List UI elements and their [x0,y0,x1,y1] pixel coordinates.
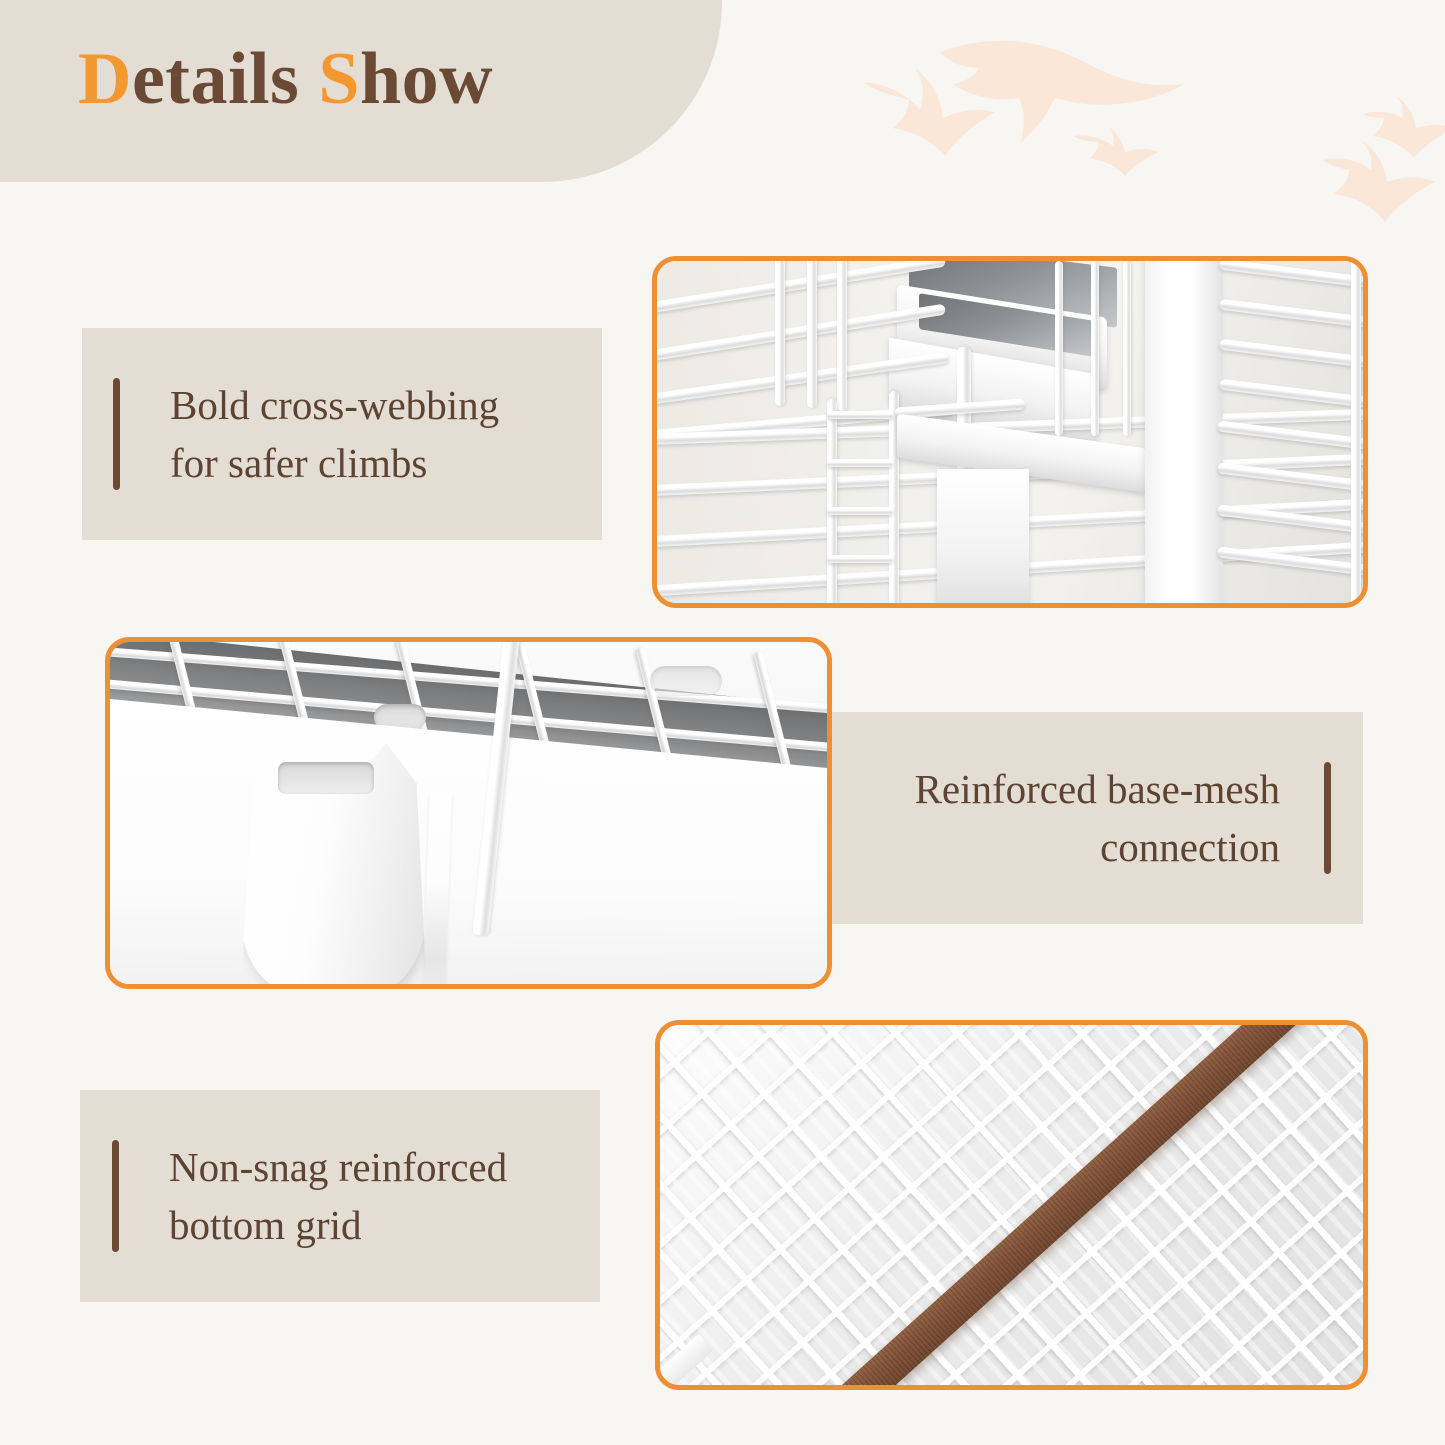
page-title: Details Show [78,38,493,121]
photo1-vbar [1055,261,1063,436]
photo1-vbar [807,261,817,408]
bird-silhouette-icon [1323,140,1435,222]
photo1-ladder-rung [827,459,893,467]
bird-silhouette-group [845,10,1445,270]
photo1-vbar [1123,261,1131,436]
feature-3-accent-bar [112,1140,119,1252]
bird-silhouette-icon [940,41,1185,142]
photo1-ladder-rail [827,399,837,603]
photo1-ladder-rung [827,555,893,563]
feature-2-line-1: Reinforced base-mesh [915,760,1280,818]
photo1-vbar [1091,261,1099,436]
feature-1-accent-bar [113,378,120,490]
bird-silhouette-icon [1363,96,1445,158]
photo1-tall-post [1145,261,1223,603]
feature-1-caption: Bold cross-webbing for safer climbs [170,376,499,492]
title-accent-s: S [318,38,360,120]
photo2-mesh-fitting [650,666,722,696]
photo1-chute [937,469,1029,603]
photo1-vbar [837,261,847,411]
base-mesh-photo [105,637,832,989]
feature-2-accent-bar [1324,762,1331,874]
photo1-ladder-rung [827,507,893,515]
feature-3-line-2: bottom grid [169,1196,507,1254]
infographic-page: Details Show Bold cross-webbing for safe… [0,0,1445,1445]
feature-1-text-block: Bold cross-webbing for safer climbs [82,328,602,540]
bird-silhouette-icon [863,68,995,156]
photo2-latch-handle-slot [278,762,374,794]
feature-3-caption: Non-snag reinforced bottom grid [169,1138,507,1254]
photo1-vbar [775,261,785,406]
feature-2-text-block: Reinforced base-mesh connection [818,712,1363,924]
photo3-wire-grid-fine [660,1025,1363,1385]
feature-1-line-1: Bold cross-webbing [170,376,499,434]
cross-webbing-photo-inner [657,261,1363,603]
base-mesh-photo-inner [110,642,827,984]
bottom-grid-photo-inner [660,1025,1363,1385]
header-banner: Details Show [0,0,722,182]
bottom-grid-photo [655,1020,1368,1390]
feature-2-caption: Reinforced base-mesh connection [915,760,1280,876]
feature-2-line-2: connection [915,818,1280,876]
title-part-two: how [360,38,493,120]
photo1-vbar [1351,261,1361,603]
feature-1-line-2: for safer climbs [170,434,499,492]
title-accent-d: D [78,38,132,120]
cross-webbing-photo [652,256,1368,608]
feature-3-text-block: Non-snag reinforced bottom grid [80,1090,600,1302]
bird-silhouette-icon [1073,126,1159,176]
feature-3-line-1: Non-snag reinforced [169,1138,507,1196]
title-part-one: etails [132,38,318,120]
photo1-ladder-rung [827,411,893,419]
